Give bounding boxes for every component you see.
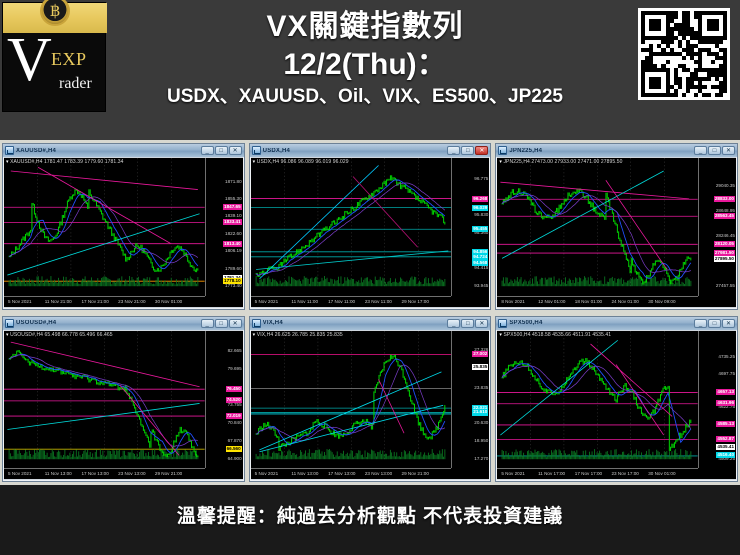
chart-plot-area: ▾ VIX,H4 26.625 26.785 25.835 25.835 [251, 331, 452, 469]
chart-canvas[interactable]: ▾ VIX,H4 26.625 26.785 25.835 25.83527.3… [251, 331, 490, 480]
time-axis-tick: 29 Nov 21:00 [155, 471, 182, 476]
price-axis-tick: 4697.75 [718, 371, 735, 377]
close-button[interactable]: ✕ [722, 146, 735, 155]
price-axis-tag: 21.610 [472, 409, 488, 415]
time-axis[interactable]: 8 Nov 202112 Nov 01:0018 Nov 01:0024 Nov… [497, 296, 698, 307]
chart-window-icon [252, 319, 261, 328]
price-axis-tag: 4657.13 [716, 389, 735, 395]
chart-ohlc-label: ▾ SPX500,H4 4518.58 4535.66 4511.91 4535… [499, 332, 611, 338]
price-axis-tag: 25.835 [472, 364, 488, 370]
chart-window-xauusd[interactable]: XAUUSD#,H4_□✕▾ XAUUSD#,H4 1781.47 1783.3… [2, 143, 245, 310]
price-axis-tag: 96.029 [472, 205, 488, 211]
price-axis-tick: 93.945 [474, 283, 488, 289]
price-axis-tick: 18.950 [474, 438, 488, 444]
footer-bar: 溫馨提醒：純過去分析觀點 不代表投資建議 [0, 485, 740, 555]
price-axis-tick: 1871.80 [225, 179, 242, 185]
price-axis-tick: 96.775 [474, 176, 488, 182]
close-button[interactable]: ✕ [722, 319, 735, 328]
chart-canvas[interactable]: ▾ JPN225,H4 27473.00 27933.00 27471.00 2… [497, 158, 736, 307]
time-axis[interactable]: 5 Nov 202111 Nov 11:0017 Nov 11:0023 Nov… [251, 296, 452, 307]
price-axis-tag: 94.568 [472, 260, 488, 266]
chart-window-icon [498, 146, 507, 155]
time-axis-tick: 11 Nov 21:00 [45, 299, 72, 304]
time-axis-tick: 5 Nov 2021 [255, 471, 279, 476]
header-title-block: VX關鍵指數列 12/2(Thu)： USDX、XAUUSD、Oil、VIX、E… [110, 8, 620, 110]
chart-window-titlebar[interactable]: USOUSD#,H4_□✕ [3, 317, 244, 330]
logo-rader-text: rader [59, 75, 92, 93]
maximize-button[interactable]: □ [708, 146, 721, 155]
chart-window-usousd[interactable]: USOUSD#,H4_□✕▾ USOUSD#,H4 65.498 66.778 … [2, 316, 245, 483]
time-axis-tick: 23 Nov 13:00 [365, 471, 392, 476]
chart-ohlc-label: ▾ USDX,H4 96.086 96.089 96.019 96.029 [253, 159, 349, 165]
price-axis-tick: 79.695 [228, 366, 242, 372]
price-axis-tag: 72.019 [226, 413, 242, 419]
price-axis-tag: 1833.41 [223, 219, 242, 225]
maximize-button[interactable]: □ [215, 146, 228, 155]
chart-canvas[interactable]: ▾ USDX,H4 96.086 96.089 96.019 96.02996.… [251, 158, 490, 307]
chart-grid: XAUUSD#,H4_□✕▾ XAUUSD#,H4 1781.47 1783.3… [0, 140, 740, 485]
footer-disclaimer: 溫馨提醒：純過去分析觀點 不代表投資建議 [0, 501, 740, 528]
price-axis-tick: 82.665 [228, 348, 242, 354]
window-controls[interactable]: _□✕ [447, 319, 488, 328]
chart-plot-area: ▾ XAUUSD#,H4 1781.47 1783.39 1779.60 178… [4, 158, 205, 296]
time-axis-tick: 11 Nov 17:00 [538, 471, 565, 476]
chart-window-title: USDX,H4 [263, 148, 448, 154]
time-axis-tick: 29 Nov 17:00 [402, 299, 429, 304]
maximize-button[interactable]: □ [215, 319, 228, 328]
price-axis-tick: 70.840 [228, 420, 242, 426]
chart-svg [251, 331, 452, 469]
brand-logo: ฿ V EXP rader [2, 2, 106, 112]
price-axis-tick: 29040.35 [716, 183, 735, 189]
logo-exp-text: EXP [51, 49, 87, 70]
qr-code-icon [638, 8, 730, 100]
price-axis-tick: 23.835 [474, 385, 488, 391]
time-axis-tick: 23 Nov 21:00 [118, 299, 145, 304]
window-controls[interactable]: _□✕ [201, 319, 242, 328]
time-axis-tick: 17 Nov 11:00 [328, 299, 355, 304]
price-axis[interactable]: 4735.254697.754622.754509.254657.134631.… [698, 331, 736, 469]
chart-ohlc-label: ▾ VIX,H4 26.625 26.785 25.835 25.835 [253, 332, 343, 338]
price-axis-tick: 64.900 [228, 456, 242, 462]
logo-letter-v: V [7, 29, 50, 91]
price-axis-tick: 95.830 [474, 212, 488, 218]
time-axis-tick: 5 Nov 2021 [8, 471, 32, 476]
price-axis[interactable]: 27.32623.83521.96620.63018.95017.27027.0… [451, 331, 489, 469]
price-axis-tick: 94.415 [474, 265, 488, 271]
time-axis-tick: 29 Nov 21:00 [402, 471, 429, 476]
chart-ohlc-label: ▾ USOUSD#,H4 65.498 66.778 65.496 66.465 [6, 332, 113, 338]
chart-window-title: SPX500,H4 [509, 320, 694, 326]
chart-window-jpn225[interactable]: JPN225,H4_□✕▾ JPN225,H4 27473.00 27933.0… [495, 143, 738, 310]
chart-plot-area: ▾ USOUSD#,H4 65.498 66.778 65.496 66.465 [4, 331, 205, 469]
price-axis-tag: 27.002 [472, 351, 488, 357]
chart-ohlc-label: ▾ JPN225,H4 27473.00 27933.00 27471.00 2… [499, 159, 622, 165]
chart-window-icon [5, 319, 14, 328]
time-axis-tick: 11 Nov 11:00 [291, 299, 318, 304]
price-axis-tag: 74.520 [226, 397, 242, 403]
time-axis-tick: 11 Nov 13:00 [291, 471, 318, 476]
price-axis-tick: 67.870 [228, 438, 242, 444]
chart-window-titlebar[interactable]: USDX,H4_□✕ [250, 144, 491, 157]
time-axis-tick: 30 Nov 01:00 [155, 299, 182, 304]
chart-window-title: VIX,H4 [263, 320, 448, 326]
time-axis-tick: 8 Nov 2021 [501, 299, 525, 304]
close-button[interactable]: ✕ [229, 319, 242, 328]
price-axis-tag: 28120.05 [714, 241, 735, 247]
chart-svg [497, 331, 698, 469]
price-axis[interactable]: 82.66579.69573.75570.84067.87064.90076.4… [205, 331, 243, 469]
price-axis-tag: 76.450 [226, 386, 242, 392]
chart-window-titlebar[interactable]: XAUUSD#,H4_□✕ [3, 144, 244, 157]
chart-window-spx500[interactable]: SPX500,H4_□✕▾ SPX500,H4 4518.58 4535.66 … [495, 316, 738, 483]
minimize-button[interactable]: _ [201, 319, 214, 328]
price-axis-tick: 1806.19 [225, 248, 242, 254]
window-controls[interactable]: _□✕ [447, 146, 488, 155]
time-axis-tick: 5 Nov 2021 [8, 299, 32, 304]
chart-window-title: XAUUSD#,H4 [16, 148, 201, 154]
time-axis-tick: 23 Nov 11:00 [365, 299, 392, 304]
chart-window-icon [5, 146, 14, 155]
price-axis-tick: 28246.45 [716, 233, 735, 239]
maximize-button[interactable]: □ [461, 319, 474, 328]
chart-window-titlebar[interactable]: SPX500,H4_□✕ [496, 317, 737, 330]
time-axis-tick: 17 Nov 13:00 [81, 471, 108, 476]
window-controls[interactable]: _□✕ [201, 146, 242, 155]
minimize-button[interactable]: _ [694, 146, 707, 155]
price-axis-tag: 95.455 [472, 226, 488, 232]
minimize-button[interactable]: _ [447, 146, 460, 155]
price-axis[interactable]: 96.77595.83095.36094.41593.94596.26896.0… [451, 158, 489, 296]
chart-plot-area: ▾ JPN225,H4 27473.00 27933.00 27471.00 2… [497, 158, 698, 296]
window-controls[interactable]: _□✕ [694, 319, 735, 328]
chart-window-icon [252, 146, 261, 155]
chart-svg [251, 158, 452, 296]
price-axis-tag: 28563.45 [714, 213, 735, 219]
logo-emblem-icon: ฿ [40, 0, 70, 26]
time-axis-tick: 30 Nov 09:00 [648, 299, 675, 304]
chart-window-vix[interactable]: VIX,H4_□✕▾ VIX,H4 26.625 26.785 25.835 2… [249, 316, 492, 483]
price-axis-tag: 28833.00 [714, 196, 735, 202]
slide-root: ฿ V EXP rader VX關鍵指數列 12/2(Thu)： USDX、XA… [0, 0, 740, 555]
chart-canvas[interactable]: ▾ SPX500,H4 4518.58 4535.66 4511.91 4535… [497, 331, 736, 480]
chart-plot-area: ▾ SPX500,H4 4518.58 4535.66 4511.91 4535… [497, 331, 698, 469]
price-axis-tag: 66.560 [226, 446, 242, 452]
chart-window-titlebar[interactable]: VIX,H4_□✕ [250, 317, 491, 330]
time-axis-tick: 5 Nov 2021 [255, 299, 279, 304]
time-axis-tick: 24 Nov 01:00 [612, 299, 639, 304]
header-title-main: VX關鍵指數列 [110, 8, 620, 46]
minimize-button[interactable]: _ [447, 319, 460, 328]
price-axis-tick: 17.270 [474, 456, 488, 462]
price-axis[interactable]: 1871.801855.301839.101822.601806.191789.… [205, 158, 243, 296]
price-axis-tag: 4631.96 [716, 400, 735, 406]
time-axis-tick: 23 Nov 13:00 [118, 471, 145, 476]
close-button[interactable]: ✕ [475, 146, 488, 155]
price-axis-tick: 1822.60 [225, 231, 242, 237]
time-axis-tick: 17 Nov 17:00 [575, 471, 602, 476]
chart-canvas[interactable]: ▾ USOUSD#,H4 65.498 66.778 65.496 66.465… [4, 331, 243, 480]
chart-canvas[interactable]: ▾ XAUUSD#,H4 1781.47 1783.39 1779.60 178… [4, 158, 243, 307]
price-axis[interactable]: 29040.3528843.6528648.9528246.4527457.55… [698, 158, 736, 296]
price-axis-tag: 96.268 [472, 196, 488, 202]
time-axis[interactable]: 5 Nov 202111 Nov 21:0017 Nov 21:0023 Nov… [4, 296, 205, 307]
price-axis-tick: 20.630 [474, 420, 488, 426]
chart-svg [497, 158, 698, 296]
time-axis-tick: 17 Nov 13:00 [328, 471, 355, 476]
chart-window-icon [498, 319, 507, 328]
price-axis-tick: 1789.60 [225, 266, 242, 272]
price-axis-tick: 27457.55 [716, 283, 735, 289]
header-title-symbols: USDX、XAUUSD、Oil、VIX、ES500、JP225 [110, 84, 620, 110]
price-axis-tick: 4735.25 [718, 354, 735, 360]
chart-window-title: JPN225,H4 [509, 148, 694, 154]
price-axis-tick: 1855.30 [225, 196, 242, 202]
minimize-button[interactable]: _ [694, 319, 707, 328]
price-axis-tag: 1847.65 [223, 204, 242, 210]
chart-window-usdx[interactable]: USDX,H4_□✕▾ USDX,H4 96.086 96.089 96.019… [249, 143, 492, 310]
maximize-button[interactable]: □ [461, 146, 474, 155]
price-axis-tag: 1813.40 [223, 241, 242, 247]
price-axis-tag: 27895.50 [714, 256, 735, 262]
price-axis-tag: 4585.13 [716, 421, 735, 427]
time-axis-tick: 30 Nov 01:00 [648, 471, 675, 476]
chart-plot-area: ▾ USDX,H4 96.086 96.089 96.019 96.029 [251, 158, 452, 296]
maximize-button[interactable]: □ [708, 319, 721, 328]
time-axis-tick: 11 Nov 13:00 [45, 471, 72, 476]
chart-svg [4, 158, 205, 296]
time-axis-tick: 17 Nov 21:00 [81, 299, 108, 304]
time-axis-tick: 12 Nov 01:00 [538, 299, 565, 304]
minimize-button[interactable]: _ [201, 146, 214, 155]
time-axis-tick: 23 Nov 17:00 [612, 471, 639, 476]
chart-ohlc-label: ▾ XAUUSD#,H4 1781.47 1783.39 1779.60 178… [6, 159, 124, 165]
price-axis-tag: 1778.10 [223, 278, 242, 284]
price-axis-tag: 4516.40 [716, 452, 735, 458]
time-axis-tick: 5 Nov 2021 [501, 471, 525, 476]
chart-window-title: USOUSD#,H4 [16, 320, 201, 326]
chart-svg [4, 331, 205, 469]
header-banner: ฿ V EXP rader VX關鍵指數列 12/2(Thu)： USDX、XA… [0, 0, 740, 140]
time-axis[interactable]: 5 Nov 202111 Nov 17:0017 Nov 17:0023 Nov… [497, 468, 698, 479]
window-controls[interactable]: _□✕ [694, 146, 735, 155]
close-button[interactable]: ✕ [229, 146, 242, 155]
time-axis[interactable]: 5 Nov 202111 Nov 13:0017 Nov 13:0023 Nov… [4, 468, 205, 479]
header-title-date: 12/2(Thu)： [110, 46, 620, 84]
price-axis-tag: 4552.87 [716, 436, 735, 442]
chart-window-titlebar[interactable]: JPN225,H4_□✕ [496, 144, 737, 157]
close-button[interactable]: ✕ [475, 319, 488, 328]
time-axis[interactable]: 5 Nov 202111 Nov 13:0017 Nov 13:0023 Nov… [251, 468, 452, 479]
time-axis-tick: 18 Nov 01:00 [575, 299, 602, 304]
price-axis-tag: 4535.41 [716, 444, 735, 450]
